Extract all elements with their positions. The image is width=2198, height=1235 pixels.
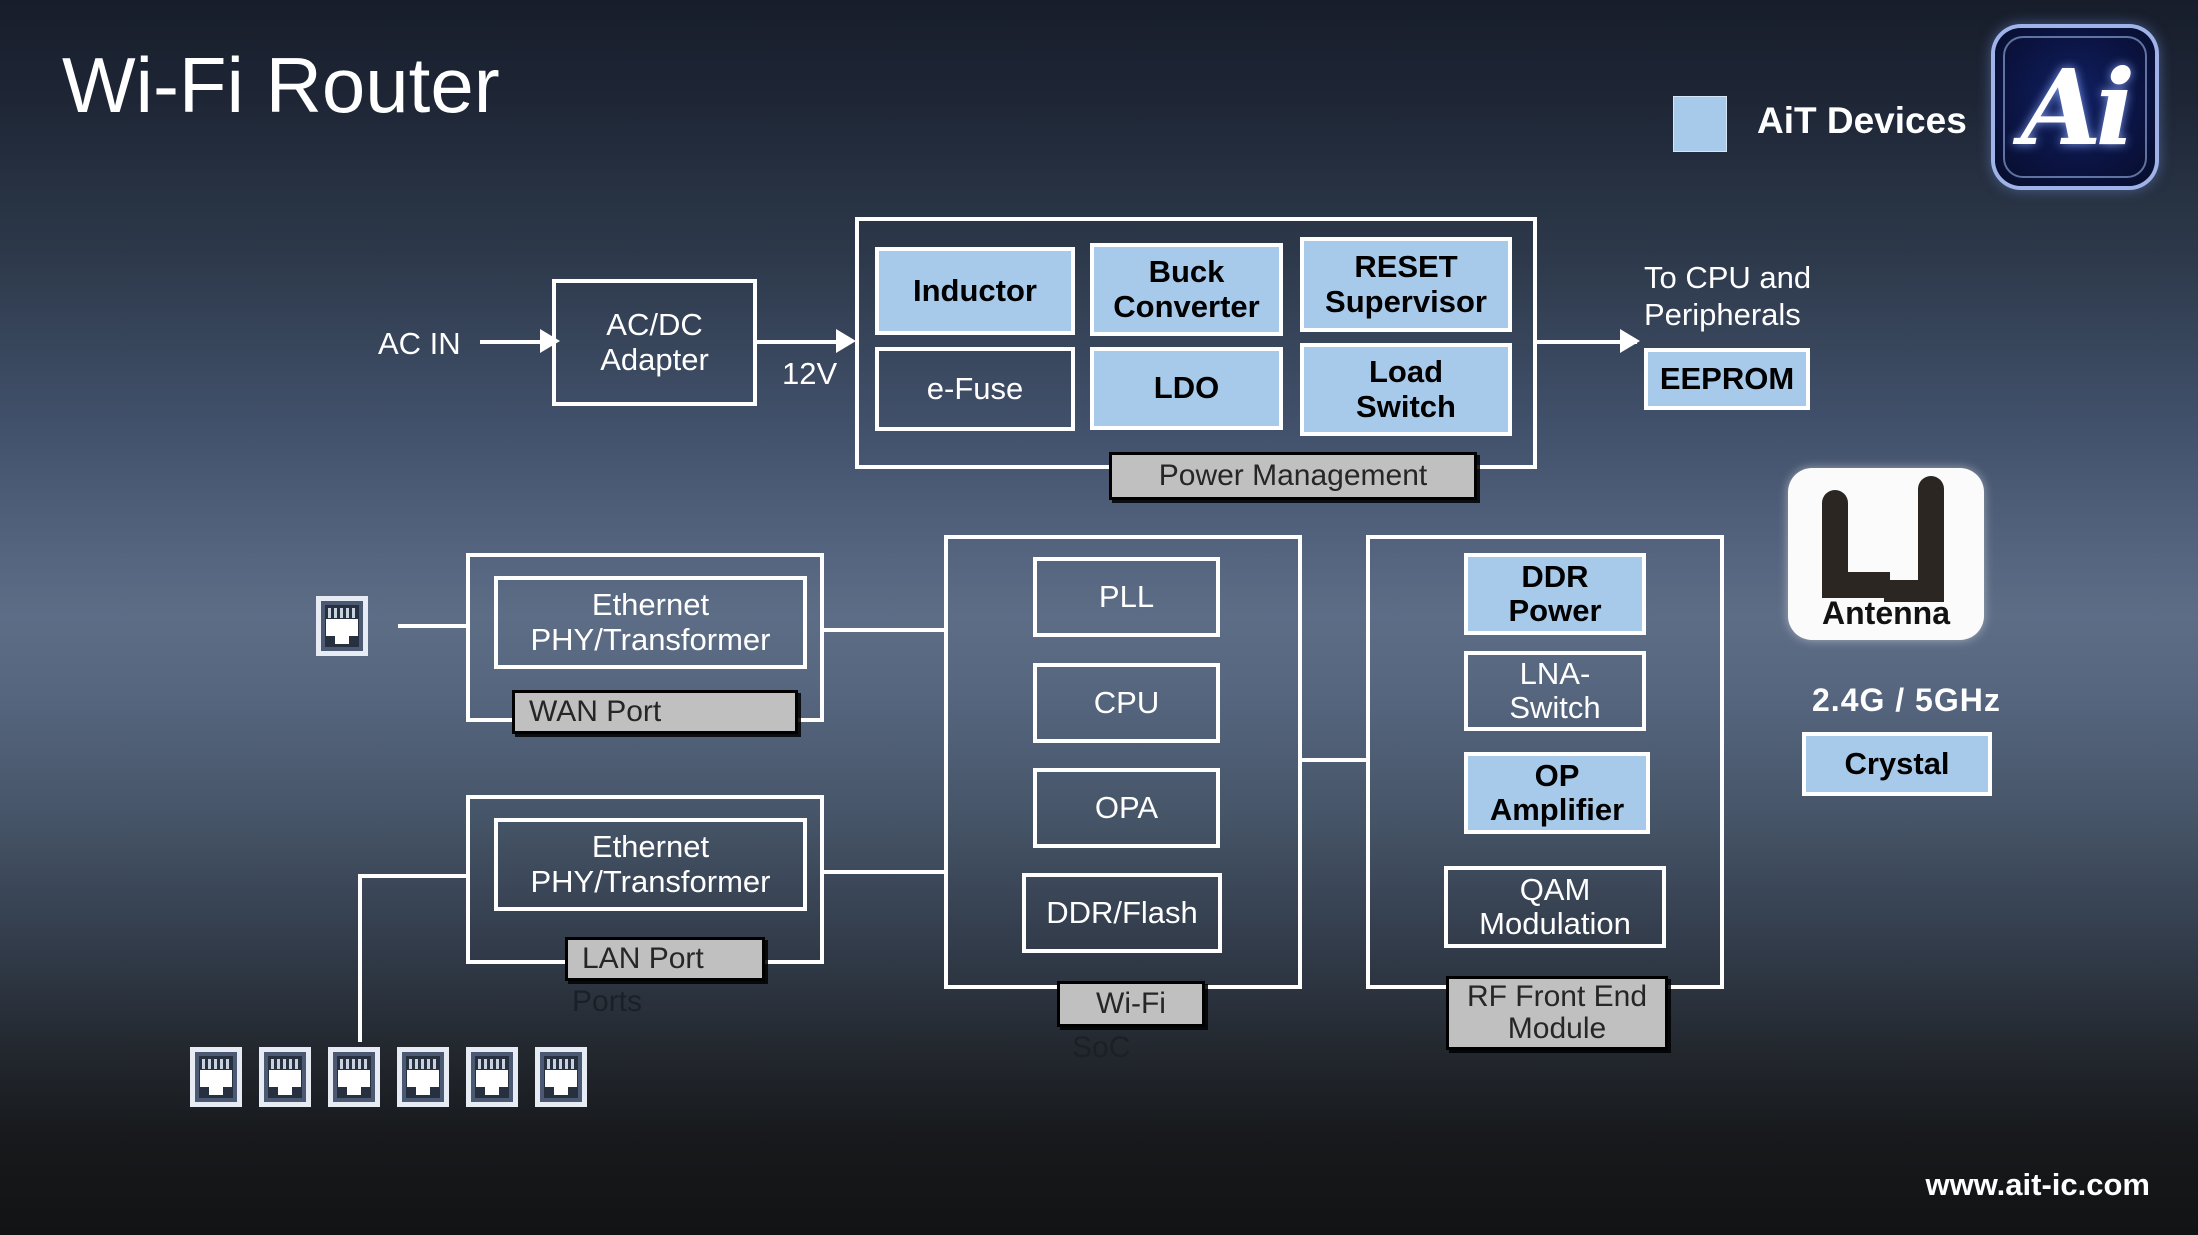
rj45-tab <box>209 1085 223 1095</box>
adapter-out-arrow <box>836 329 856 353</box>
wan-to-soc-line <box>824 628 944 632</box>
soc-wifi-caption: Wi-Fi <box>1057 981 1205 1027</box>
bus-voltage-label: 12V <box>782 355 837 392</box>
antenna-icon: Antenna <box>1788 468 1984 640</box>
block-e-fuse: e-Fuse <box>875 347 1075 431</box>
rj45-connector-lan <box>259 1047 311 1107</box>
rj45-connector-lan <box>397 1047 449 1107</box>
block-lna-switch: LNA- Switch <box>1464 651 1646 731</box>
rj45-tab <box>347 1085 361 1095</box>
lan-bank-v-line <box>358 874 362 1042</box>
block-ddr-flash: DDR/Flash <box>1022 873 1222 953</box>
rj45-tab <box>485 1085 499 1095</box>
rf-front-end-caption: RF Front End Module <box>1446 976 1668 1050</box>
rj45-body <box>475 1056 509 1098</box>
rj45-body <box>337 1056 371 1098</box>
rj45-connector-wan <box>316 596 368 656</box>
wan-port-caption: WAN Port <box>512 690 798 734</box>
block-wan-ethernet-phy: Ethernet PHY/Transformer <box>494 576 807 669</box>
rj45-pins <box>271 1059 300 1069</box>
rj45-pins <box>409 1059 438 1069</box>
logo-glyph: Ai <box>1995 28 2155 186</box>
lan-to-soc-line <box>824 870 944 874</box>
rj45-body <box>325 605 359 647</box>
block-buck-converter: Buck Converter <box>1090 243 1283 336</box>
block-inductor: Inductor <box>875 247 1075 335</box>
page-title: Wi-Fi Router <box>62 40 500 131</box>
rj45-connector-lan <box>535 1047 587 1107</box>
rj45-connector-lan <box>328 1047 380 1107</box>
footer-website: www.ait-ic.com <box>1925 1167 2150 1203</box>
wan-connector-line <box>398 624 470 628</box>
block-load-switch: Load Switch <box>1300 343 1512 436</box>
lan-bank-h-line <box>358 874 470 878</box>
block-eeprom: EEPROM <box>1644 348 1810 410</box>
rj45-pins <box>328 608 357 618</box>
rj45-tab <box>278 1085 292 1095</box>
ac-in-label: AC IN <box>378 325 461 362</box>
block-op-amplifier: OP Amplifier <box>1464 752 1650 834</box>
block-ldo: LDO <box>1090 347 1283 430</box>
legend-color-swatch <box>1673 96 1727 152</box>
block-opa: OPA <box>1033 768 1220 848</box>
block-qam-modulation: QAM Modulation <box>1444 866 1666 948</box>
rj45-connector-lan <box>190 1047 242 1107</box>
rj45-connector-lan <box>466 1047 518 1107</box>
block-reset-supervisor: RESET Supervisor <box>1300 237 1512 332</box>
rj45-body <box>544 1056 578 1098</box>
rj45-tab <box>554 1085 568 1095</box>
rj45-tab <box>335 634 349 644</box>
legend-label: AiT Devices <box>1757 100 1967 142</box>
ait-logo: Ai <box>1995 28 2155 186</box>
rj45-body <box>406 1056 440 1098</box>
block-crystal: Crystal <box>1802 732 1992 796</box>
to-cpu-peripherals-label: To CPU and Peripherals <box>1644 259 1811 333</box>
rj45-body <box>268 1056 302 1098</box>
block-pll: PLL <box>1033 557 1220 637</box>
antenna-rod-right <box>1918 476 1944 588</box>
frequency-label: 2.4G / 5GHz <box>1812 682 2001 719</box>
rj45-body <box>199 1056 233 1098</box>
ports-group-label: Ports <box>572 985 642 1019</box>
rj45-pins <box>547 1059 576 1069</box>
block-lan-ethernet-phy: Ethernet PHY/Transformer <box>494 818 807 911</box>
power-management-caption: Power Management <box>1109 452 1477 500</box>
block-cpu: CPU <box>1033 663 1220 743</box>
lan-port-caption: LAN Port <box>565 937 765 981</box>
wifi-router-block-diagram: Wi-Fi Router AiT Devices Ai AC IN AC/DC … <box>0 0 2198 1235</box>
antenna-label: Antenna <box>1788 595 1984 632</box>
power-out-arrow <box>1620 329 1640 353</box>
ac-dc-adapter-block: AC/DC Adapter <box>552 279 757 406</box>
rj45-pins <box>340 1059 369 1069</box>
rj45-pins <box>202 1059 231 1069</box>
rj45-tab <box>416 1085 430 1095</box>
rj45-pins <box>478 1059 507 1069</box>
soc-group-label: SoC <box>1072 1031 1130 1065</box>
block-ddr-power: DDR Power <box>1464 553 1646 635</box>
soc-to-rf-line <box>1302 758 1368 762</box>
